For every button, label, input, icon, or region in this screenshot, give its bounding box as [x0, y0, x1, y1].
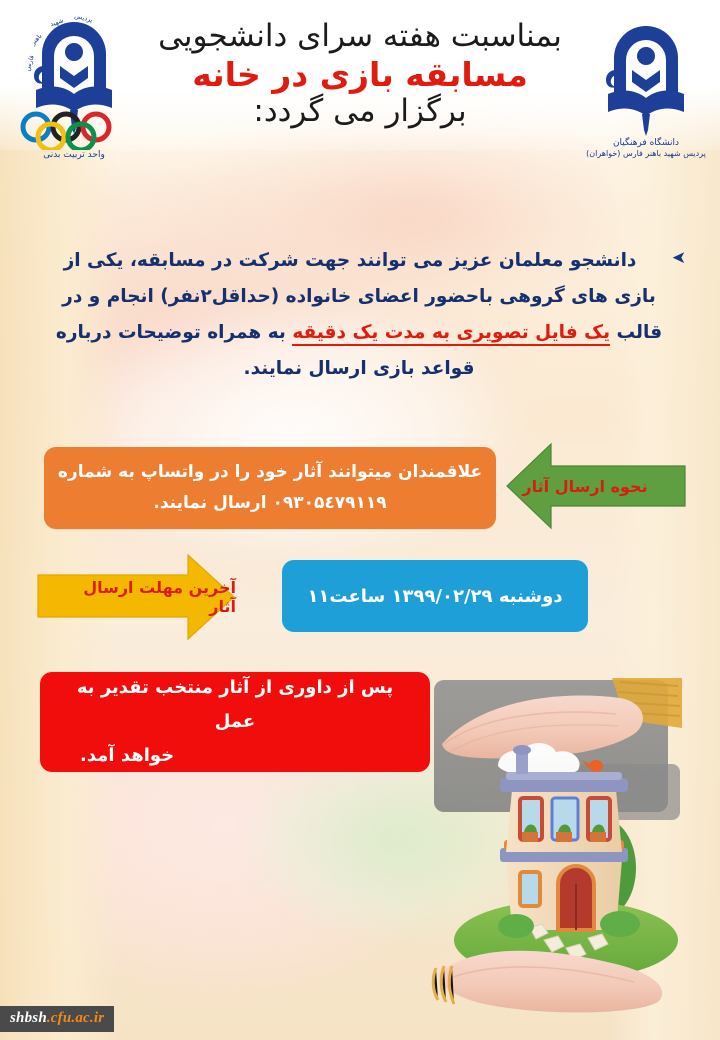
- submission-method-box: علاقمندان میتوانند آثار خود را در واتساپ…: [44, 447, 496, 529]
- logo-right-caption-line1: دانشگاه فرهنگیان: [580, 138, 712, 149]
- footer-website-url[interactable]: shbsh.cfu.ac.ir: [0, 1006, 114, 1032]
- hands-protecting-house-illustration: [420, 672, 710, 1017]
- submission-method-arrow-label: نحوه ارسال آثار: [505, 440, 687, 532]
- poster-root: فارس باهنر شهید پردیس واحد تربیت بدنی: [0, 0, 720, 1040]
- house-in-hands-icon: [420, 672, 710, 1017]
- submission-method-arrow: نحوه ارسال آثار: [505, 440, 687, 532]
- physical-education-emblem-icon: فارس باهنر شهید پردیس: [8, 4, 140, 150]
- title-line-occasion: بمناسبت هفته سرای دانشجویی: [140, 18, 580, 56]
- footer-url-domain: .cfu.ac.ir: [47, 1010, 104, 1026]
- body-line-3-suffix: به همراه توضیحات درباره: [56, 322, 292, 343]
- award-box: پس از داوری از آثار منتخب تقدیر به عمل خ…: [40, 672, 430, 772]
- body-paragraph-block: ➤ دانشجو معلمان عزیز می توانند جهت شرکت …: [52, 243, 692, 387]
- arrow-bullet-icon: ➤: [666, 243, 692, 273]
- deadline-date-text: دوشنبه ۱۳۹۹/۰۲/۲۹ ساعت۱۱: [307, 586, 562, 607]
- award-line-1: پس از داوری از آثار منتخب تقدیر به عمل: [54, 671, 416, 739]
- farhangian-emblem-icon: [580, 18, 712, 138]
- deadline-arrow-label: آخرین مهلت ارسال آثار: [36, 553, 236, 641]
- logo-right-caption-line2: پردیس شهید باهنر فارس (خواهران): [580, 149, 712, 159]
- svg-text:باهنر: باهنر: [28, 32, 43, 48]
- body-paragraph: دانشجو معلمان عزیز می توانند جهت شرکت در…: [52, 243, 666, 387]
- logo-physical-education: فارس باهنر شهید پردیس واحد تربیت بدنی: [8, 4, 140, 176]
- logo-farhangian-university: دانشگاه فرهنگیان پردیس شهید باهنر فارس (…: [580, 18, 712, 178]
- deadline-arrow: آخرین مهلت ارسال آثار: [36, 553, 236, 641]
- body-line-4: قواعد بازی ارسال نمایند.: [52, 351, 666, 387]
- title-line-held: برگزار می گردد:: [140, 93, 580, 131]
- body-line-3-prefix: قالب: [610, 322, 662, 343]
- body-line-1: دانشجو معلمان عزیز می توانند جهت شرکت در…: [52, 243, 666, 279]
- submission-method-line-2: ۰۹۳۰۵٤۷۹۱۱۹ ارسال نمایند.: [58, 488, 482, 519]
- title-line-event-name: مسابقه بازی در خانه: [140, 54, 580, 95]
- submission-method-line-1: علاقمندان میتوانند آثار خود را در واتساپ…: [58, 457, 482, 488]
- award-line-2: خواهد آمد.: [54, 739, 416, 773]
- award-text: پس از داوری از آثار منتخب تقدیر به عمل خ…: [40, 671, 430, 773]
- submission-method-text: علاقمندان میتوانند آثار خود را در واتساپ…: [46, 457, 494, 519]
- logo-left-caption: واحد تربیت بدنی: [8, 150, 140, 161]
- body-line-2: بازی های گروهی باحضور اعضای خانواده (حدا…: [52, 279, 666, 315]
- svg-text:فارس: فارس: [23, 54, 36, 72]
- body-line-3: قالب یک فایل تصویری به مدت یک دقیقه به ه…: [52, 315, 666, 351]
- footer-url-subdomain: shbsh: [10, 1010, 47, 1026]
- bullet-row: ➤ دانشجو معلمان عزیز می توانند جهت شرکت …: [52, 243, 692, 387]
- deadline-date-box: دوشنبه ۱۳۹۹/۰۲/۲۹ ساعت۱۱: [282, 560, 588, 632]
- poster-title: بمناسبت هفته سرای دانشجویی مسابقه بازی د…: [140, 18, 580, 131]
- body-line-3-highlight: یک فایل تصویری به مدت یک دقیقه: [292, 322, 610, 346]
